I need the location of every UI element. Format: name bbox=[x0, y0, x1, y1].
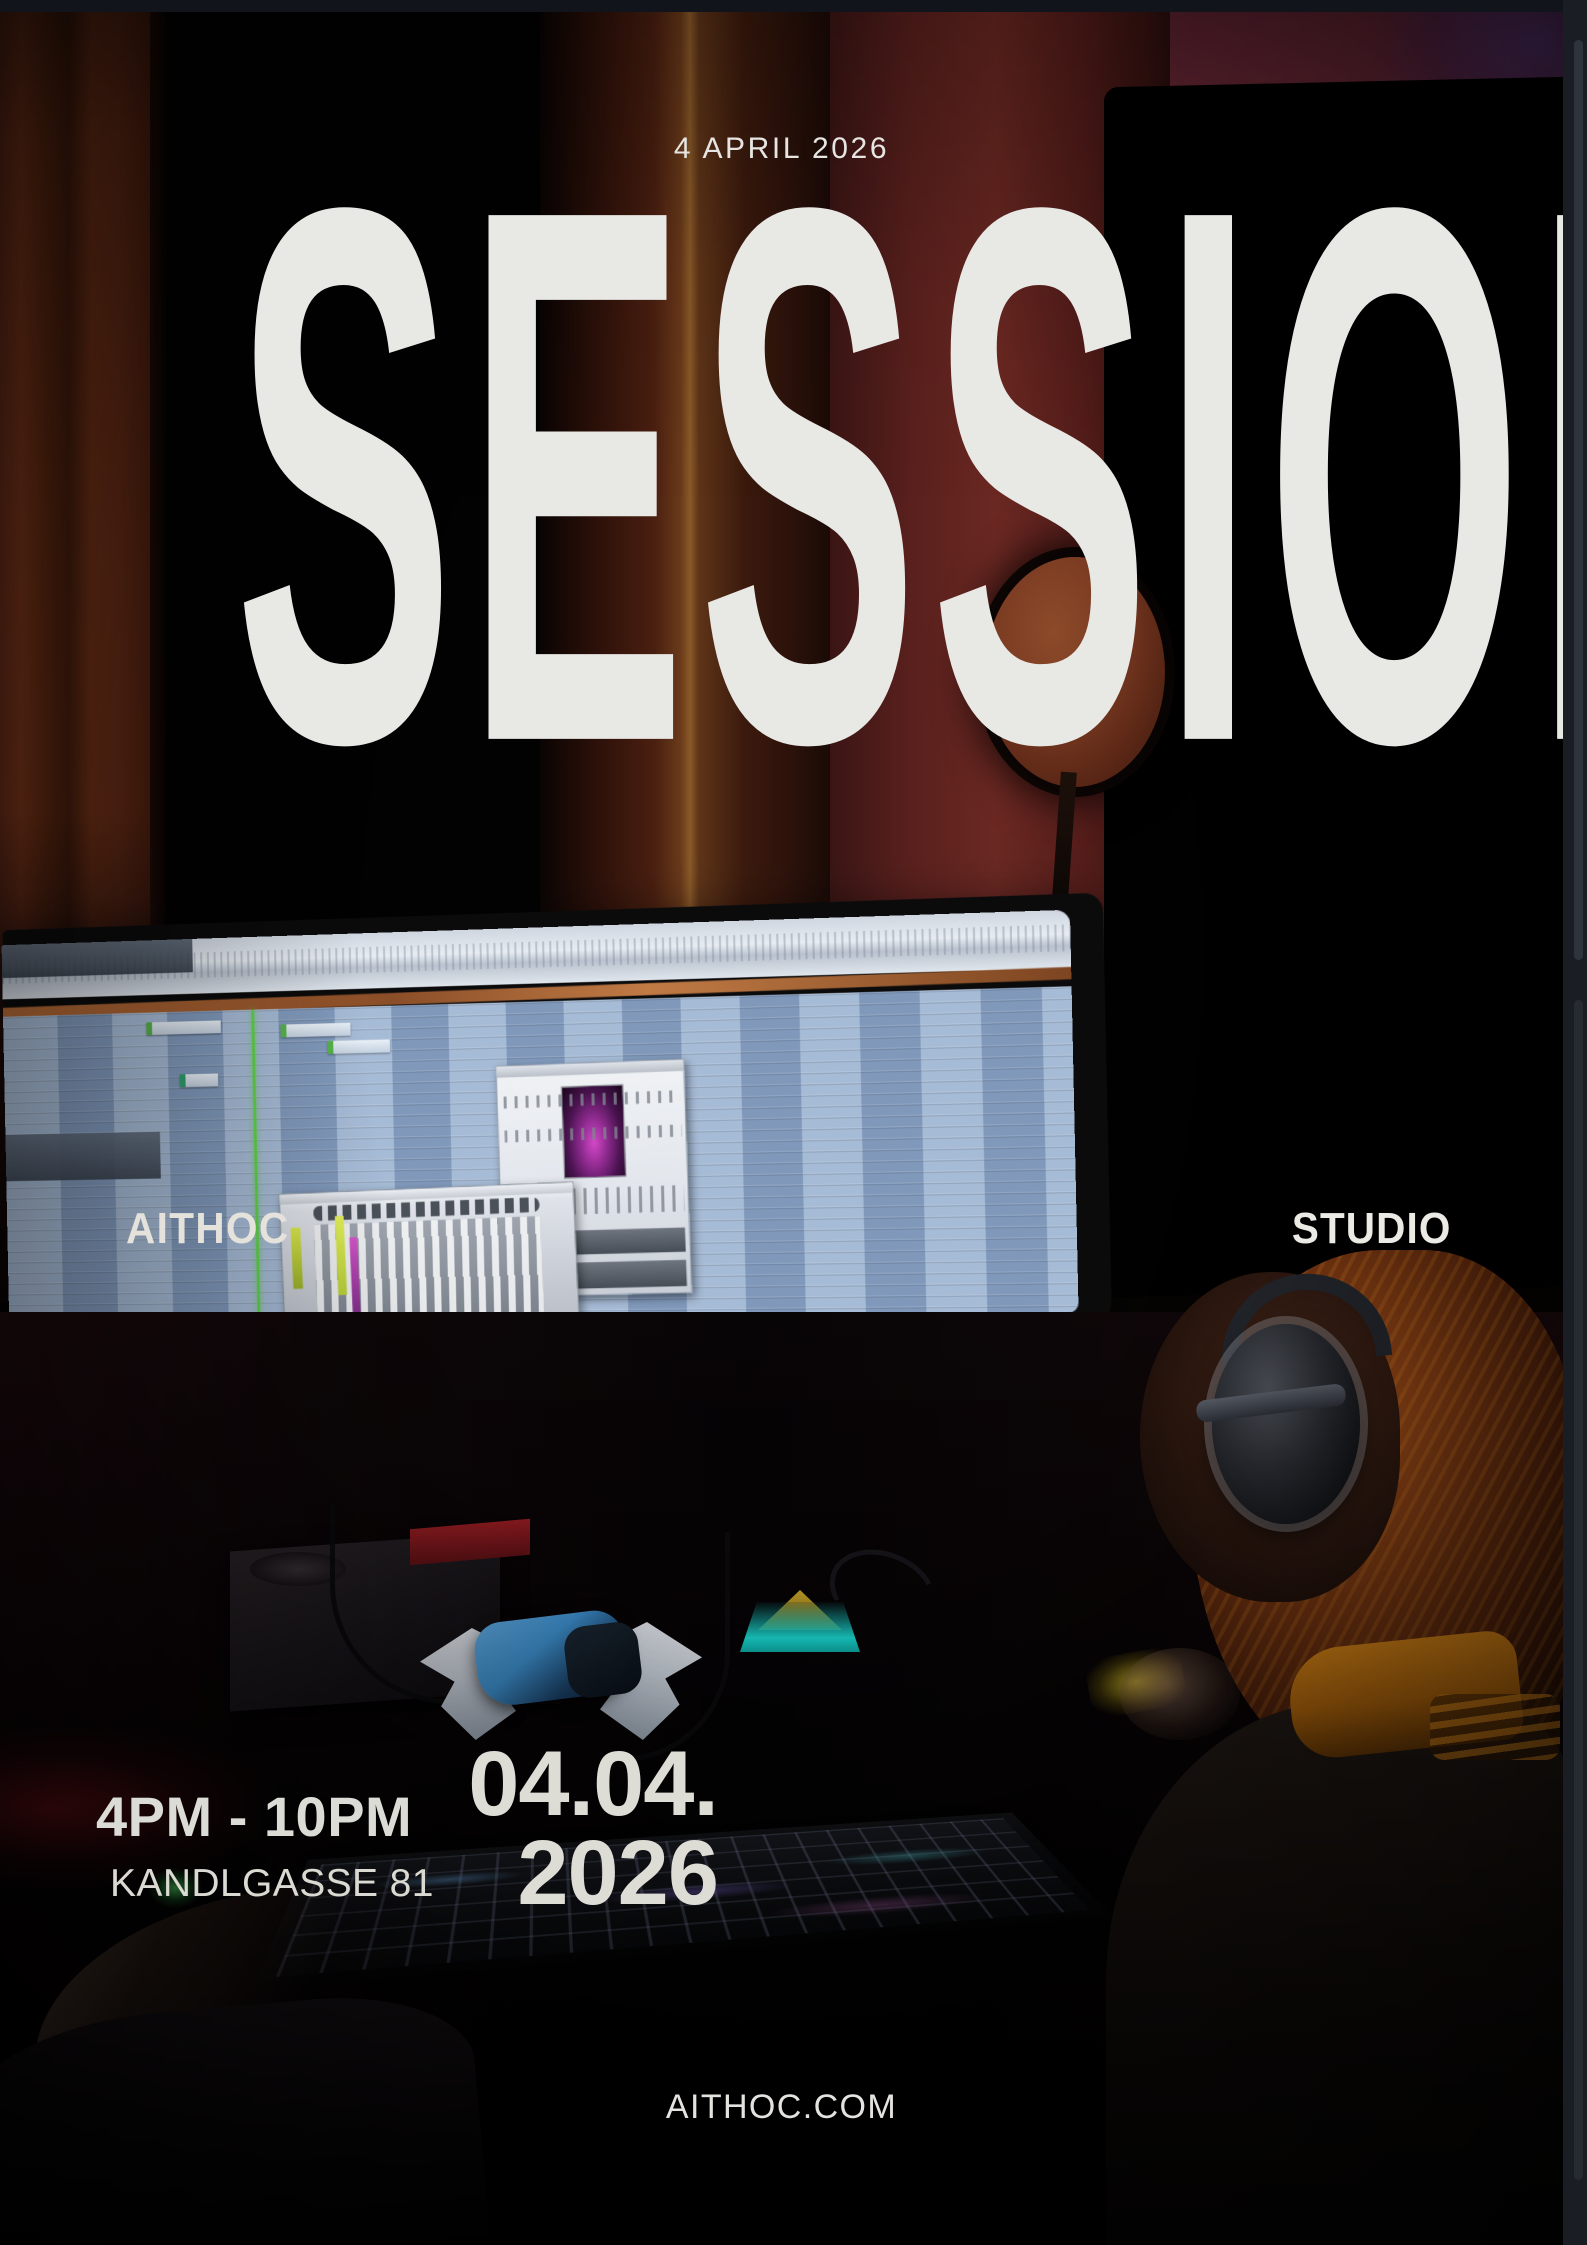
brand-name-right: STUDIO bbox=[1291, 1204, 1451, 1254]
mixer-fader-bank bbox=[314, 1216, 545, 1320]
event-poster: 4 APRIL 2026 SESSION AITHOC STUDIO 4PM -… bbox=[0, 12, 1563, 2245]
game-controller-grip bbox=[562, 1620, 644, 1700]
daw-track-header bbox=[2, 1132, 161, 1182]
website-url: AITHOC.COM bbox=[0, 2088, 1563, 2127]
scrollbar-thumb-secondary[interactable] bbox=[1574, 1000, 1583, 2180]
person-hand-right bbox=[1120, 1648, 1240, 1740]
scrollbar-thumb[interactable] bbox=[1574, 40, 1583, 960]
keyboard-rgb-glow bbox=[821, 1844, 994, 1869]
mixer-level-meter bbox=[291, 1227, 303, 1288]
event-date-numeric-line2: 2026 bbox=[298, 1829, 718, 1918]
daw-audio-clip bbox=[146, 1020, 221, 1035]
daw-mixer-window bbox=[278, 1181, 579, 1322]
daw-audio-clip bbox=[327, 1039, 390, 1053]
event-date-numeric-line1: 04.04. bbox=[468, 1733, 718, 1835]
daw-audio-clip bbox=[180, 1073, 219, 1087]
headphones-icon bbox=[1212, 1324, 1360, 1524]
app-window: 4 APRIL 2026 SESSION AITHOC STUDIO 4PM -… bbox=[0, 0, 1587, 2245]
brand-name-left: AITHOC bbox=[126, 1204, 289, 1254]
daw-audio-clip bbox=[280, 1023, 350, 1038]
person-sleeve-pattern bbox=[1430, 1694, 1560, 1760]
person-shoulder bbox=[1106, 1702, 1563, 2245]
monitor-screen bbox=[2, 910, 1079, 1323]
scrollbar-track[interactable] bbox=[1563, 0, 1587, 2245]
page-title: SESSION bbox=[234, 180, 1328, 774]
browser-chrome-strip bbox=[0, 0, 1587, 12]
keyboard-rgb-glow bbox=[764, 1888, 993, 1922]
event-date-numeric: 04.04. 2026 bbox=[298, 1740, 718, 1918]
